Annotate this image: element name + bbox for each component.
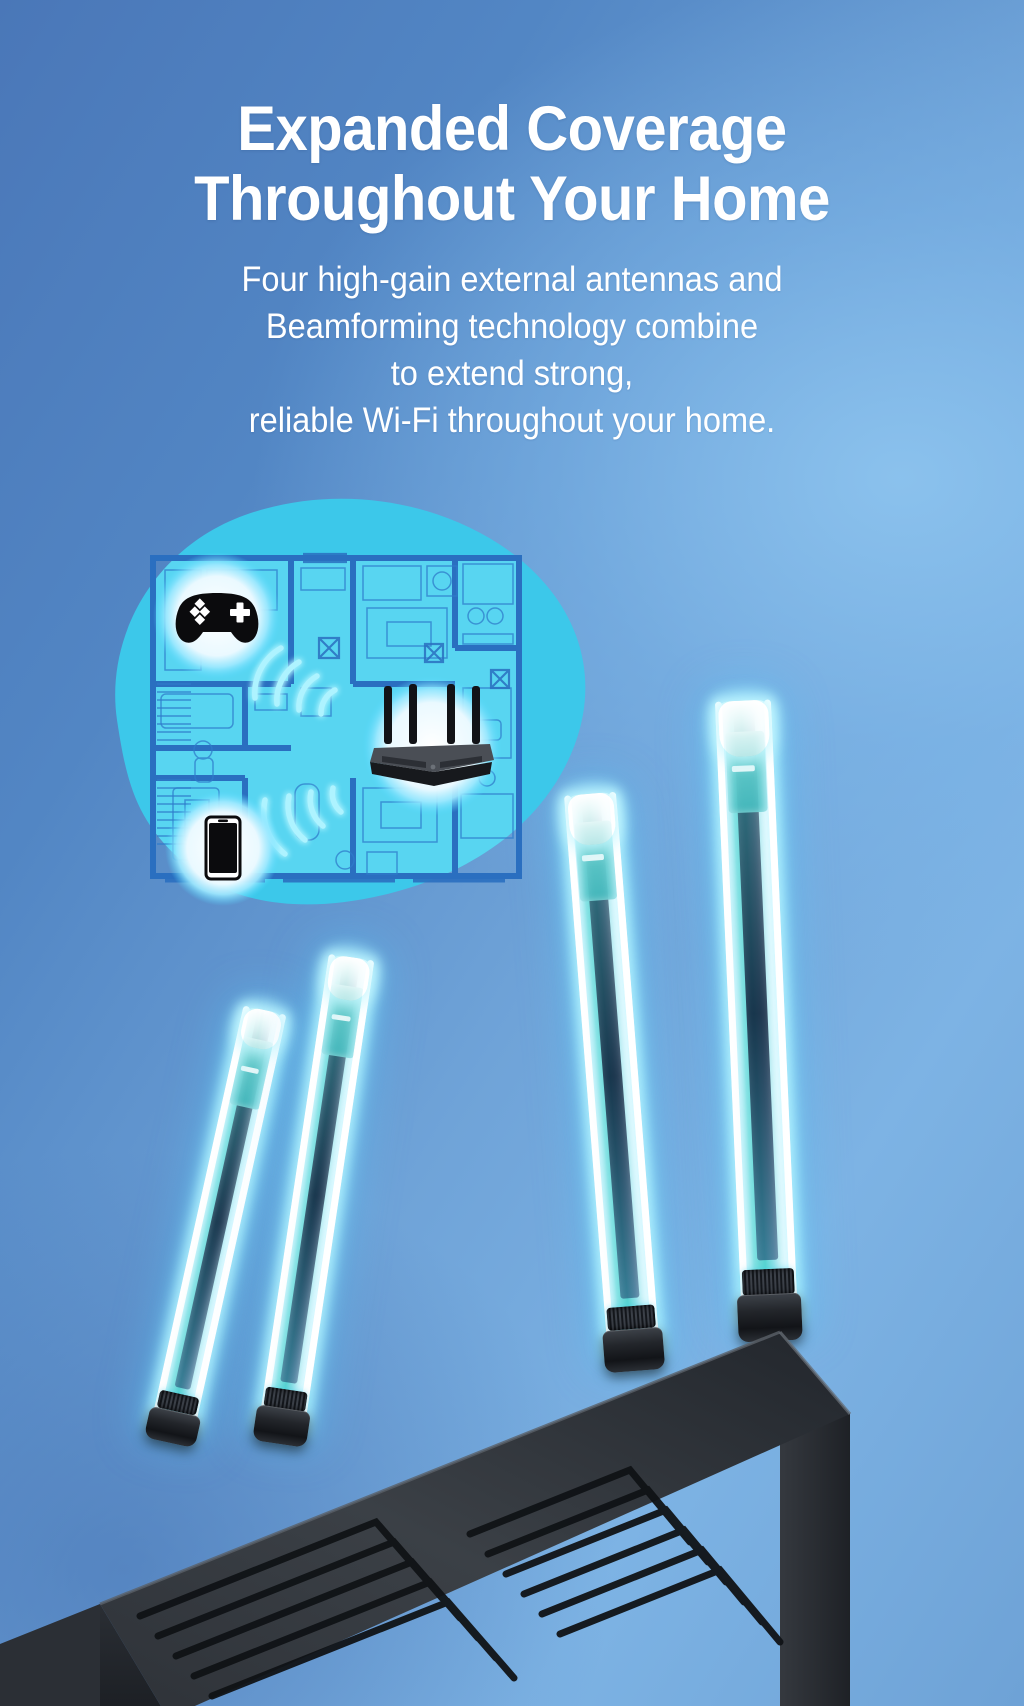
home-coverage-illustration (95, 488, 595, 938)
headline-line-1: Expanded Coverage (237, 94, 786, 164)
subhead-line-3: to extend strong, (391, 354, 633, 393)
antenna-knurl (742, 1267, 795, 1295)
antenna-4 (715, 699, 798, 1323)
node-smartphone[interactable] (165, 790, 281, 906)
hero-copy: Expanded Coverage Throughout Your Home F… (0, 0, 1024, 444)
smartphone-icon (206, 817, 240, 879)
router-left-face (0, 1604, 100, 1706)
page-title: Expanded Coverage Throughout Your Home (41, 0, 983, 234)
subhead-line-4: reliable Wi-Fi throughout your home. (249, 401, 775, 440)
node-router[interactable] (362, 676, 502, 816)
subhead-line-1: Four high-gain external antennas and (241, 260, 782, 299)
page-subtitle: Four high-gain external antennas and Bea… (36, 234, 988, 444)
subhead-line-2: Beamforming technology combine (266, 307, 758, 346)
node-gamepad[interactable] (153, 552, 281, 680)
hero-background: Expanded Coverage Throughout Your Home F… (0, 0, 1024, 1706)
antenna-tip (718, 700, 770, 758)
headline-line-2: Throughout Your Home (194, 164, 830, 234)
router-top-face (100, 1332, 850, 1706)
router-chassis (0, 1318, 1024, 1706)
